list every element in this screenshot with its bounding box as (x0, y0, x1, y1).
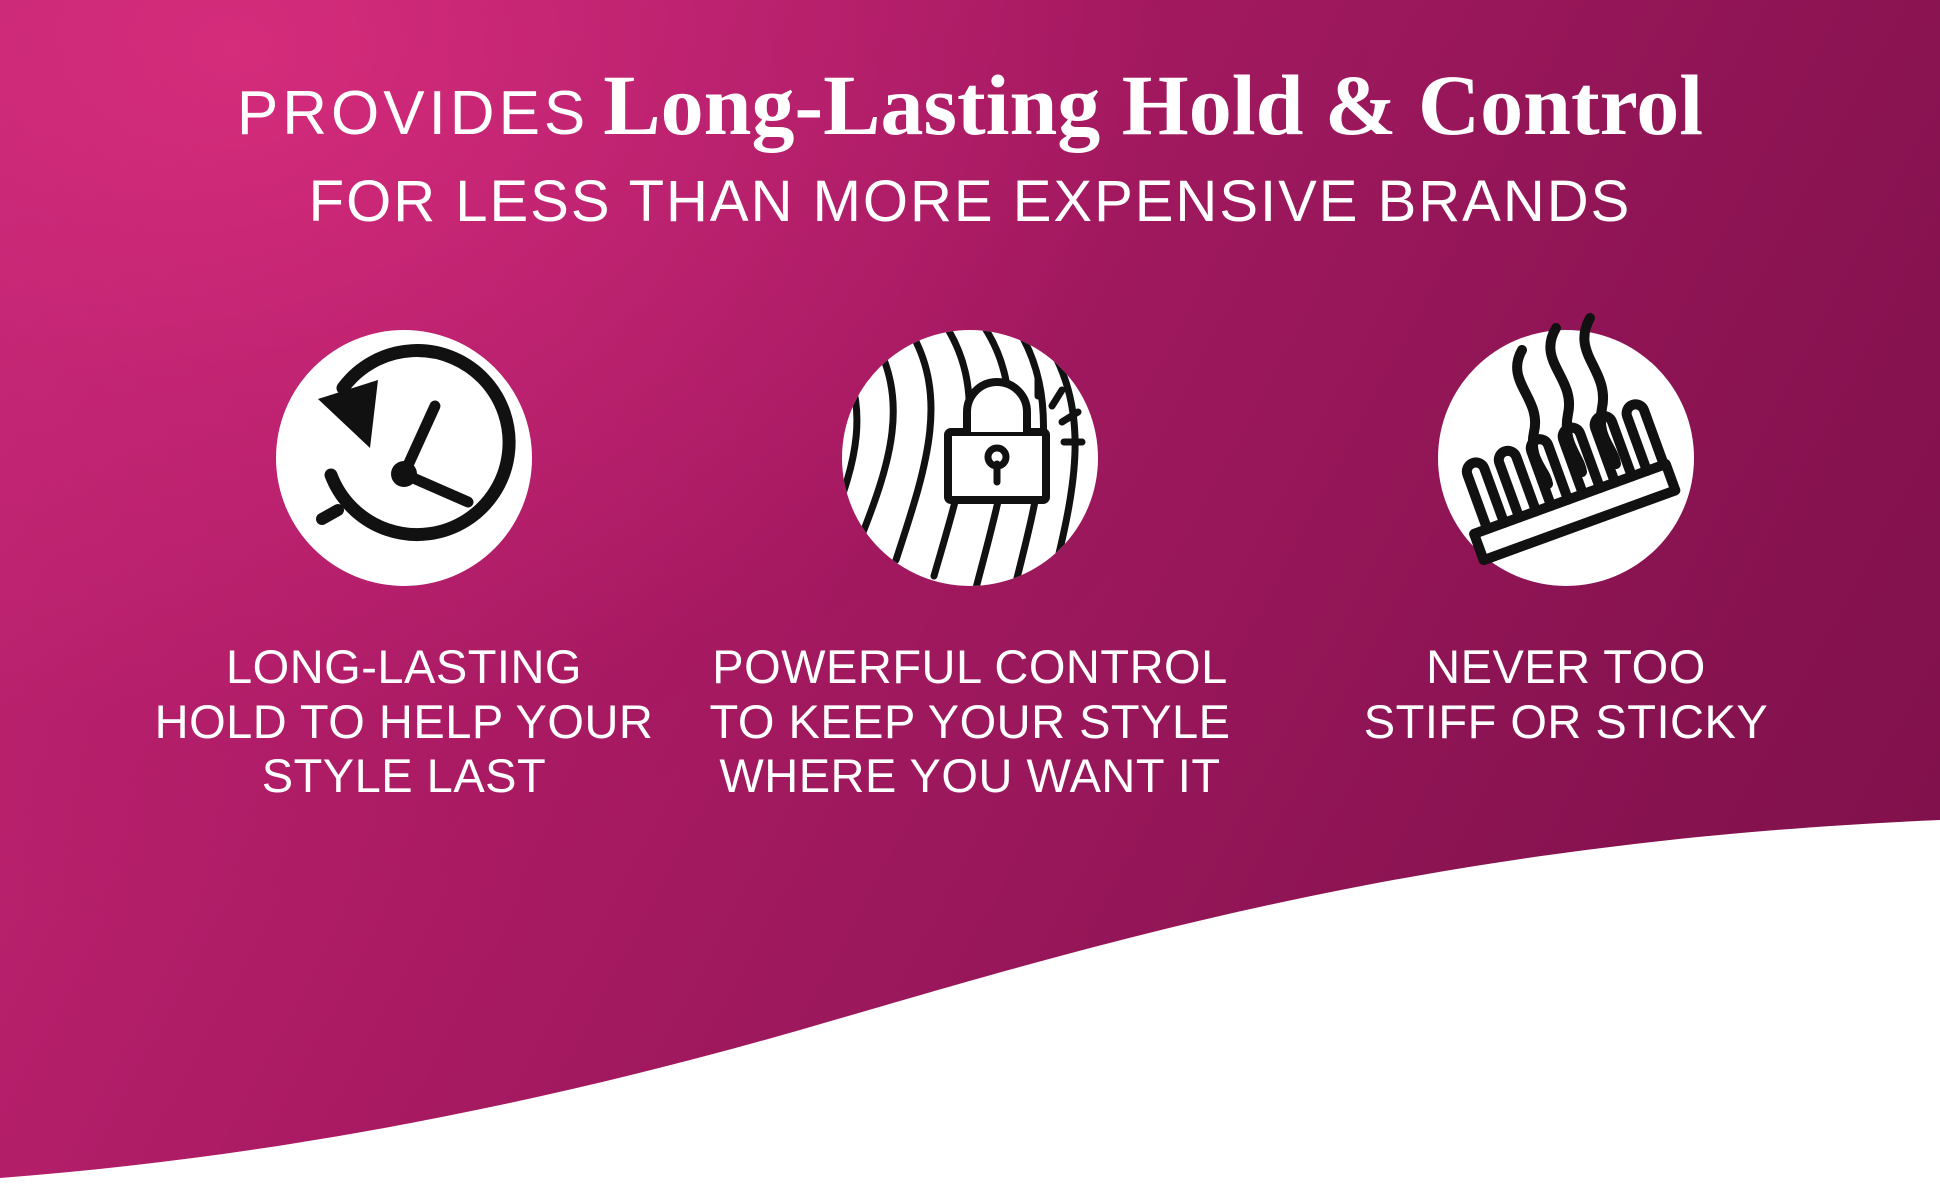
headline: PROVIDESLong-Lasting Hold & Control (0, 62, 1940, 148)
feature-caption: NEVER TOO STIFF OR STICKY (1364, 640, 1768, 749)
feature-item-powerful-control: POWERFUL CONTROL TO KEEP YOUR STYLE WHER… (690, 330, 1250, 804)
clock-rewind-icon (276, 330, 532, 586)
subheadline: FOR LESS THAN MORE EXPENSIVE BRANDS (0, 168, 1940, 235)
feature-item-long-lasting: LONG-LASTING HOLD TO HELP YOUR STYLE LAS… (124, 330, 684, 804)
promo-banner: PROVIDESLong-Lasting Hold & Control FOR … (0, 0, 1940, 1200)
feature-caption: POWERFUL CONTROL TO KEEP YOUR STYLE WHER… (710, 640, 1231, 804)
headline-emphasis: Long-Lasting Hold & Control (603, 57, 1703, 153)
wave-divider (0, 780, 1940, 1200)
feature-item-never-stiff: NEVER TOO STIFF OR STICKY (1286, 330, 1846, 749)
hair-strands-lock-icon (842, 330, 1098, 586)
comb-through-hair-icon (1438, 330, 1694, 586)
feature-list: LONG-LASTING HOLD TO HELP YOUR STYLE LAS… (0, 330, 1940, 804)
headline-lead: PROVIDES (237, 79, 589, 148)
feature-caption: LONG-LASTING HOLD TO HELP YOUR STYLE LAS… (155, 640, 654, 804)
